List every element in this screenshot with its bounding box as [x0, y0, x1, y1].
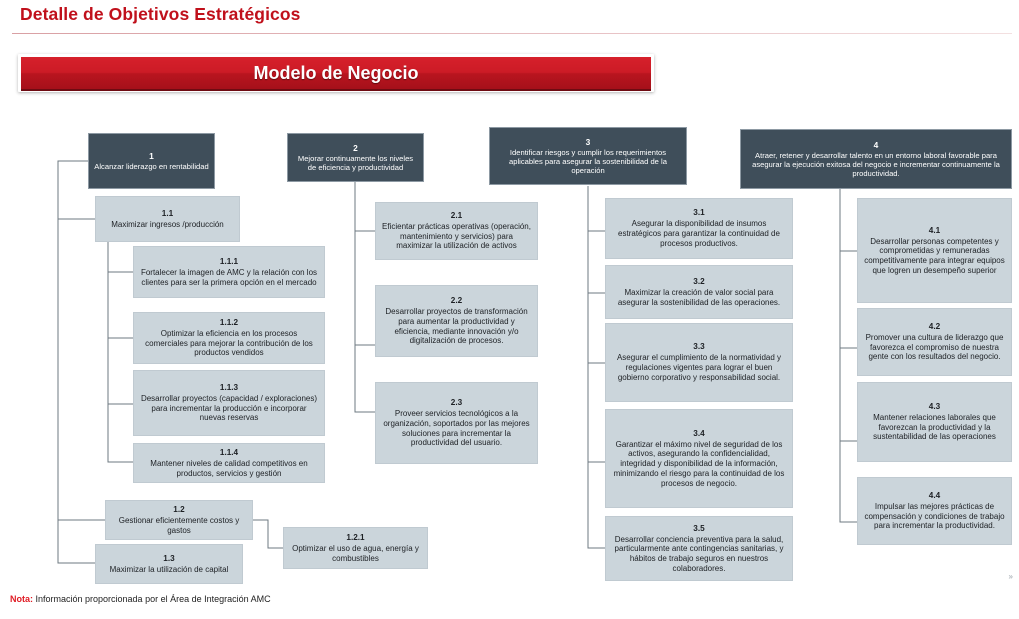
- objective-number: 1.1.1: [220, 257, 238, 267]
- objective-text: Desarrollar proyectos (capacidad / explo…: [140, 394, 318, 423]
- objective-text: Fortalecer la imagen de AMC y la relació…: [140, 268, 318, 288]
- objective-number: 4.4: [929, 491, 940, 501]
- objective-text: Mantener relaciones laborales que favore…: [864, 413, 1005, 442]
- objective-text: Optimizar el uso de agua, energía y comb…: [290, 544, 421, 564]
- objective-node-4-4[interactable]: 4.4 Impulsar las mejores prácticas de co…: [857, 477, 1012, 545]
- objectives-diagram: 1 Alcanzar liderazgo en rentabilidad 1.1…: [0, 0, 1019, 619]
- objective-number: 1.2: [173, 505, 184, 515]
- footer-note-label: Nota:: [10, 594, 33, 604]
- objective-node-1-1[interactable]: 1.1 Maximizar ingresos /producción: [95, 196, 240, 242]
- objective-text: Desarrollar personas competentes y compr…: [864, 237, 1005, 276]
- objective-text: Proveer servicios tecnológicos a la orga…: [382, 409, 531, 448]
- objective-node-2[interactable]: 2 Mejorar continuamente los niveles de e…: [287, 133, 424, 182]
- objective-text: Gestionar eficientemente costos y gastos: [112, 516, 246, 536]
- objective-text: Identificar riesgos y cumplir los requer…: [495, 148, 681, 176]
- objective-node-1-2-1[interactable]: 1.2.1 Optimizar el uso de agua, energía …: [283, 527, 428, 569]
- objective-text: Maximizar ingresos /producción: [111, 220, 224, 230]
- objective-number: 3.3: [693, 342, 704, 352]
- objective-node-1[interactable]: 1 Alcanzar liderazgo en rentabilidad: [88, 133, 215, 189]
- objective-text: Garantizar el máximo nivel de seguridad …: [612, 440, 786, 489]
- objective-number: 3.1: [693, 208, 704, 218]
- objective-number: 4.1: [929, 226, 940, 236]
- objective-text: Maximizar la creación de valor social pa…: [612, 288, 786, 308]
- objective-text: Maximizar la utilización de capital: [110, 565, 229, 575]
- objective-node-2-1[interactable]: 2.1 Eficientar prácticas operativas (ope…: [375, 202, 538, 260]
- objective-text: Asegurar la disponibilidad de insumos es…: [612, 219, 786, 248]
- footer-note-text: Información proporcionada por el Área de…: [33, 594, 271, 604]
- objective-text: Mantener niveles de calidad competitivos…: [140, 459, 318, 479]
- objective-number: 2.2: [451, 296, 462, 306]
- objective-node-3-4[interactable]: 3.4 Garantizar el máximo nivel de seguri…: [605, 409, 793, 508]
- objective-node-4[interactable]: 4 Atraer, retener y desarrollar talento …: [740, 129, 1012, 189]
- objective-number: 1.2.1: [346, 533, 364, 543]
- objective-number: 4: [874, 140, 879, 150]
- objective-node-3[interactable]: 3 Identificar riesgos y cumplir los requ…: [489, 127, 687, 185]
- objective-number: 3.4: [693, 429, 704, 439]
- objective-node-1-1-2[interactable]: 1.1.2 Optimizar la eficiencia en los pro…: [133, 312, 325, 364]
- footer-note: Nota: Información proporcionada por el Á…: [10, 594, 271, 604]
- objective-text: Optimizar la eficiencia en los procesos …: [140, 329, 318, 358]
- objective-node-1-1-1[interactable]: 1.1.1 Fortalecer la imagen de AMC y la r…: [133, 246, 325, 298]
- objective-node-1-3[interactable]: 1.3 Maximizar la utilización de capital: [95, 544, 243, 584]
- objective-node-1-2[interactable]: 1.2 Gestionar eficientemente costos y ga…: [105, 500, 253, 540]
- objective-number: 1.1.4: [220, 448, 238, 458]
- objective-number: 2.1: [451, 211, 462, 221]
- objective-number: 3: [586, 137, 591, 147]
- objective-node-4-3[interactable]: 4.3 Mantener relaciones laborales que fa…: [857, 382, 1012, 462]
- objective-node-1-1-4[interactable]: 1.1.4 Mantener niveles de calidad compet…: [133, 443, 325, 483]
- objective-text: Mejorar continuamente los niveles de efi…: [293, 154, 418, 173]
- objective-text: Asegurar el cumplimiento de la normativi…: [612, 353, 786, 382]
- objective-node-3-2[interactable]: 3.2 Maximizar la creación de valor socia…: [605, 265, 793, 319]
- objective-number: 2: [353, 143, 358, 153]
- objective-text: Desarrollar conciencia preventiva para l…: [612, 535, 786, 574]
- objective-text: Alcanzar liderazgo en rentabilidad: [94, 162, 208, 171]
- objective-node-4-1[interactable]: 4.1 Desarrollar personas competentes y c…: [857, 198, 1012, 303]
- objective-node-3-5[interactable]: 3.5 Desarrollar conciencia preventiva pa…: [605, 516, 793, 581]
- objective-number: 4.3: [929, 402, 940, 412]
- objective-number: 2.3: [451, 398, 462, 408]
- objective-node-2-3[interactable]: 2.3 Proveer servicios tecnológicos a la …: [375, 382, 538, 464]
- objective-number: 1.1: [162, 209, 173, 219]
- objective-number: 1.1.3: [220, 383, 238, 393]
- objective-text: Impulsar las mejores prácticas de compen…: [864, 502, 1005, 531]
- objective-node-3-3[interactable]: 3.3 Asegurar el cumplimiento de la norma…: [605, 323, 793, 402]
- objective-node-3-1[interactable]: 3.1 Asegurar la disponibilidad de insumo…: [605, 198, 793, 259]
- objective-number: 1.1.2: [220, 318, 238, 328]
- objective-number: 4.2: [929, 322, 940, 332]
- objective-text: Desarrollar proyectos de transformación …: [382, 307, 531, 346]
- objective-node-4-2[interactable]: 4.2 Promover una cultura de liderazgo qu…: [857, 308, 1012, 376]
- objective-number: 1: [149, 151, 154, 161]
- objective-text: Eficientar prácticas operativas (operaci…: [382, 222, 531, 251]
- objective-number: 3.2: [693, 277, 704, 287]
- objective-text: Atraer, retener y desarrollar talento en…: [746, 151, 1006, 179]
- objective-number: 3.5: [693, 524, 704, 534]
- objective-node-2-2[interactable]: 2.2 Desarrollar proyectos de transformac…: [375, 285, 538, 357]
- objective-number: 1.3: [163, 554, 174, 564]
- objective-text: Promover una cultura de liderazgo que fa…: [864, 333, 1005, 362]
- objective-node-1-1-3[interactable]: 1.1.3 Desarrollar proyectos (capacidad /…: [133, 370, 325, 436]
- corner-mark: »: [1009, 572, 1013, 581]
